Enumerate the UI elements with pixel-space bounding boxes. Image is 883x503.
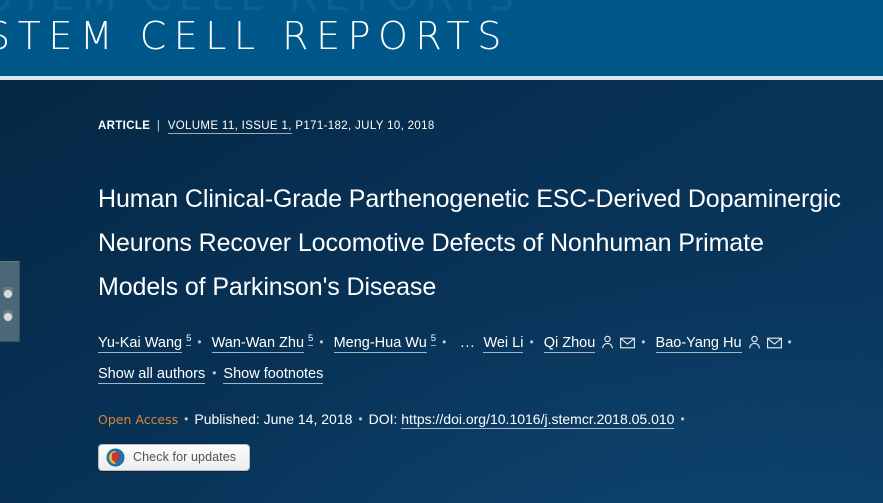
breadcrumb-divider: | — [157, 120, 160, 132]
publication-metadata: Open Access•Published: June 14, 2018•DOI… — [98, 409, 868, 430]
check-for-updates-label: Check for updates — [133, 450, 236, 464]
published-label: Published: — [194, 411, 259, 427]
author-footnote-marker[interactable]: 5 — [431, 333, 436, 346]
crossmark-logo-icon — [106, 448, 125, 467]
doi-label: DOI: — [369, 411, 398, 427]
share-dot-icon-1 — [4, 290, 12, 298]
author-list-ellipsis: ... — [460, 335, 475, 351]
doi-link[interactable]: https://doi.org/10.1016/j.stemcr.2018.05… — [401, 411, 674, 429]
author-link[interactable]: Bao-Yang Hu — [656, 335, 742, 353]
author-list: Yu-Kai Wang5• Wan-Wan Zhu5• Meng-Hua Wu5… — [98, 328, 868, 354]
author-footnote-marker[interactable]: 5 — [308, 333, 313, 346]
share-rail-tab[interactable] — [0, 261, 20, 342]
journal-masthead: STEM CELL REPORTS STEM CELL REPORTS — [0, 0, 883, 76]
author-link[interactable]: Wei Li — [483, 335, 523, 353]
author-separator: • — [197, 335, 201, 349]
author-separator: • — [788, 335, 792, 349]
author-link[interactable]: Yu-Kai Wang — [98, 335, 182, 353]
envelope-icon[interactable] — [620, 337, 635, 349]
published-date: June 14, 2018 — [264, 411, 353, 427]
meta-separator: • — [358, 412, 362, 426]
breadcrumb: ARTICLE | VOLUME 11, ISSUE 1, P171-182, … — [98, 118, 868, 134]
author-link[interactable]: Meng-Hua Wu — [334, 335, 427, 353]
article-header: ARTICLE | VOLUME 11, ISSUE 1, P171-182, … — [98, 118, 868, 472]
author-footnote-marker[interactable]: 5 — [186, 333, 191, 346]
share-dot-icon-2 — [4, 313, 12, 321]
author-separator: • — [529, 335, 533, 349]
envelope-icon[interactable] — [767, 337, 782, 349]
breadcrumb-pages-date: P171-182, JULY 10, 2018 — [295, 120, 434, 132]
author-separator: • — [442, 335, 446, 349]
meta-separator: • — [680, 412, 684, 426]
breadcrumb-article-type: ARTICLE — [98, 120, 150, 132]
author-link[interactable]: Qi Zhou — [544, 335, 596, 353]
author-link[interactable]: Wan-Wan Zhu — [212, 335, 304, 353]
show-all-authors-link[interactable]: Show all authors — [98, 366, 205, 384]
check-for-updates-button[interactable]: Check for updates — [98, 444, 250, 471]
show-footnotes-link[interactable]: Show footnotes — [223, 366, 323, 384]
journal-wordmark[interactable]: STEM CELL REPORTS — [0, 14, 509, 58]
breadcrumb-volume-issue-link[interactable]: VOLUME 11, ISSUE 1, — [168, 120, 292, 134]
person-icon[interactable] — [601, 335, 614, 349]
author-separator: • — [641, 335, 645, 349]
page-title: Human Clinical-Grade Parthenogenetic ESC… — [98, 177, 843, 309]
open-access-badge[interactable]: Open Access — [98, 412, 178, 427]
link-separator: • — [212, 366, 216, 380]
author-disclosure-links: Show all authors•Show footnotes — [98, 363, 868, 384]
author-separator: • — [319, 335, 323, 349]
person-icon[interactable] — [748, 335, 761, 349]
meta-separator: • — [184, 412, 188, 426]
